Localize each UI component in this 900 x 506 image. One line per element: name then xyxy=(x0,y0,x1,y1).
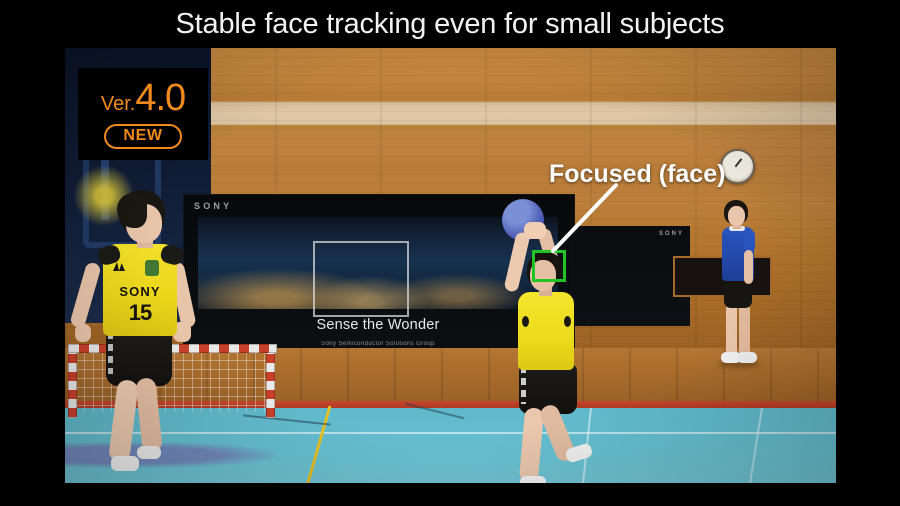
page-title: Stable face tracking even for small subj… xyxy=(0,2,900,46)
player-right-leg-left xyxy=(726,304,737,356)
player-right-arm xyxy=(744,250,753,284)
player-left-shoe-left xyxy=(111,456,139,471)
player-left-hand-left xyxy=(75,324,91,342)
player-left-jersey-text: SONY xyxy=(103,284,177,299)
player-center-jersey-detail-right xyxy=(564,316,571,327)
slide-canvas: Stable face tracking even for small subj… xyxy=(0,0,900,506)
player-center-shorts-stripe xyxy=(521,366,526,404)
player-left-leg-left xyxy=(108,379,139,463)
player-left-leg-right xyxy=(135,377,163,453)
player-center-focused xyxy=(490,198,610,483)
player-right-shoe-right xyxy=(737,352,757,363)
player-center-jersey xyxy=(518,292,574,370)
player-right-leg-right xyxy=(739,304,750,356)
secondary-signboard-brand: SONY xyxy=(659,231,684,237)
player-right xyxy=(708,200,768,380)
player-center-shoe-left xyxy=(520,476,546,483)
focus-callout-label: Focused (face) xyxy=(549,160,725,189)
version-number: 4.0 xyxy=(135,79,185,117)
version-row: Ver. 4.0 xyxy=(101,79,185,117)
player-left-arm-left xyxy=(69,261,102,329)
goal-post-right xyxy=(266,344,275,418)
version-prefix: Ver. xyxy=(101,93,135,116)
player-left-jersey-number: 15 xyxy=(103,300,177,326)
player-left-shorts-stripe xyxy=(108,332,113,374)
new-badge: NEW xyxy=(104,124,181,149)
player-right-sleeve xyxy=(744,230,755,252)
version-badge: Ver. 4.0 NEW xyxy=(78,68,208,160)
player-center-hands xyxy=(524,222,546,239)
signboard-image-frame xyxy=(313,241,409,317)
player-right-face xyxy=(728,206,745,226)
player-center-jersey-detail-left xyxy=(522,316,529,327)
player-left-shorts xyxy=(106,330,172,386)
signboard-brand: SONY xyxy=(194,201,232,211)
player-center-leg-left xyxy=(519,407,544,482)
player-center-arm-left xyxy=(503,231,530,293)
player-left-crest-icon xyxy=(145,260,159,276)
player-left-shoe-right xyxy=(137,446,161,459)
af-focus-box xyxy=(532,250,566,282)
player-left-hair-front xyxy=(117,194,147,228)
player-left: SONY 15 xyxy=(75,188,190,483)
